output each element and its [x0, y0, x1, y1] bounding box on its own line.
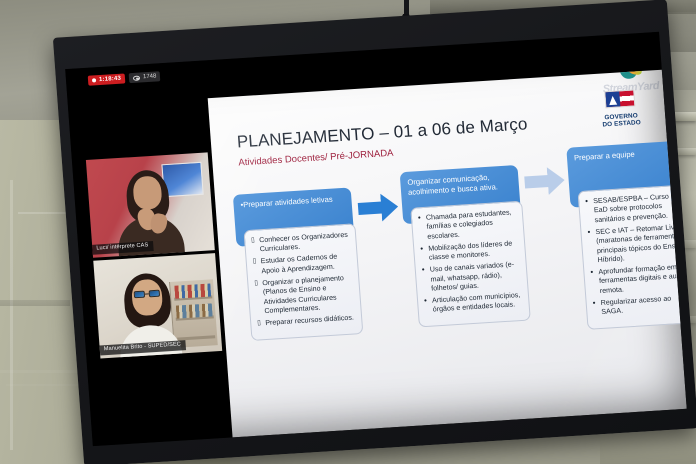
arrow-right-outline-icon — [524, 166, 566, 196]
list-item: Aprofundar formação em ferramentas digit… — [590, 262, 687, 296]
face — [132, 175, 162, 210]
process-flow: •Preparar atividades letivas Conhecer os… — [232, 155, 670, 431]
list-item: SEC e IAT – Retomar Lives (maratonas de … — [587, 222, 686, 266]
live-elapsed-time: 1:18:43 — [99, 76, 121, 83]
government-logo: GOVERNO DO ESTADO — [591, 89, 650, 130]
list-item: Articulação com municípios, órgãos e ent… — [424, 291, 523, 316]
list-item: SESAB/ESPBA – Curso EaD sobre protocolos… — [585, 192, 685, 226]
wall-trim — [0, 300, 70, 306]
television: 1:18:43 1748 Luci/ intérprete CAS — [53, 0, 696, 464]
participant-tiles: Luci/ intérprete CAS Manuelita Brito - S… — [86, 152, 223, 361]
list-item: Chamada para estudantes, famílias e cole… — [418, 208, 518, 242]
tv-screen: 1:18:43 1748 Luci/ intérprete CAS — [65, 32, 687, 446]
flow-column-3: Preparar a equipe SESAB/ESPBA – Curso Ea… — [566, 140, 686, 330]
participant-tile-speaker[interactable]: Manuelita Brito - SUPED/SEC — [93, 253, 222, 358]
books — [174, 283, 211, 298]
flow-column-2: Organizar comunicação, acolhimento e bus… — [400, 165, 529, 328]
slide-title: PLANEJAMENTO – 01 a 06 de Março — [236, 114, 528, 152]
list-item: Uso de canais variados (e-mail, whatsapp… — [422, 260, 522, 294]
stream-status-bar: 1:18:43 1748 — [88, 71, 161, 86]
duck-icon — [615, 70, 651, 86]
list-item: Regularizar acesso ao SAGA. — [592, 293, 686, 318]
viewer-count-value: 1748 — [143, 73, 157, 80]
eye-icon — [133, 75, 140, 80]
presentation-slide: Powered by StreamYard GOVERNO DO ESTADO … — [208, 70, 687, 438]
live-badge: 1:18:43 — [88, 73, 126, 85]
wall-panel-line — [10, 180, 13, 450]
books — [176, 303, 213, 318]
viewer-count-badge: 1748 — [129, 71, 161, 83]
live-dot-icon — [92, 78, 96, 82]
arrow-right-solid-icon — [357, 193, 399, 223]
flow-column-1: •Preparar atividades letivas Conhecer os… — [233, 187, 362, 341]
flow-column-3-card: SESAB/ESPBA – Curso EaD sobre protocolos… — [577, 184, 686, 330]
flow-column-1-card: Conhecer os Organizadores Curriculares. … — [243, 223, 363, 341]
list-item: Organizar o planejamento (Planos de Ensi… — [254, 273, 355, 317]
participant-tile-interpreter[interactable]: Luci/ intérprete CAS — [86, 152, 215, 257]
flow-column-2-card: Chamada para estudantes, famílias e cole… — [410, 201, 531, 328]
bahia-flag-icon — [604, 89, 635, 108]
